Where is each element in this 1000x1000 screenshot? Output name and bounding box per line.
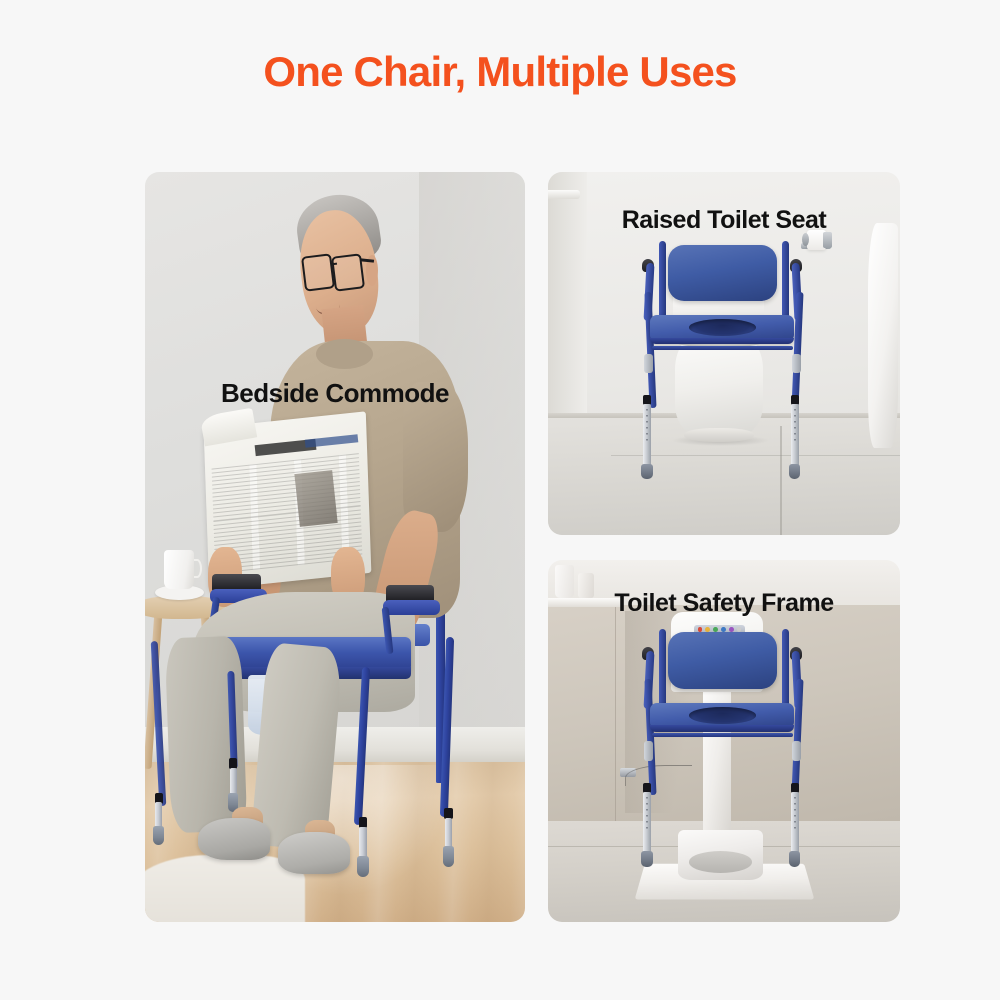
- wall-seam: [615, 605, 617, 822]
- rubber-foot-tip-left: [641, 851, 652, 866]
- product-feature-page: One Chair, Multiple Uses: [0, 0, 1000, 1000]
- seat-lip: [650, 338, 794, 345]
- leg-sleeve-left: [644, 354, 653, 374]
- leg-extender: [155, 802, 162, 828]
- frame-crossbar: [652, 346, 793, 350]
- panel-label-bedside-commode: Bedside Commode: [145, 378, 525, 409]
- rubber-foot-tip-right: [789, 464, 800, 479]
- newspaper-photo: [294, 470, 337, 526]
- tile-seam: [780, 426, 781, 535]
- rubber-foot-tip: [153, 826, 164, 845]
- leg-sleeve-left: [644, 741, 653, 761]
- page-title: One Chair, Multiple Uses: [0, 46, 1000, 98]
- scene-bedroom: [145, 172, 525, 922]
- tile-seam: [611, 455, 900, 456]
- rubber-foot-tip: [357, 856, 368, 877]
- tshirt-collar: [316, 339, 373, 369]
- armrest-bar-right: [383, 600, 440, 615]
- panel-raised-toilet-seat[interactable]: Raised Toilet Seat: [548, 172, 900, 535]
- rubber-foot-tip-left: [641, 464, 652, 479]
- leg-extender-left: [643, 792, 651, 854]
- seat-opening: [689, 319, 756, 336]
- leg-extender-left: [643, 404, 651, 466]
- slipper: [278, 832, 350, 874]
- leg-extender: [230, 768, 237, 795]
- collection-pan-basin: [689, 851, 752, 873]
- panel-bedside-commode[interactable]: Bedside Commode: [145, 172, 525, 922]
- seat-opening: [689, 707, 756, 724]
- eyeglasses-lens-right: [331, 253, 365, 291]
- panel-label-toilet-safety-frame: Toilet Safety Frame: [548, 589, 900, 618]
- panel-label-raised-toilet-seat: Raised Toilet Seat: [548, 206, 900, 235]
- frame-crossbar: [652, 733, 793, 737]
- leg-sleeve-right: [792, 354, 801, 374]
- eyeglasses-bridge: [332, 262, 337, 265]
- padded-backrest: [668, 632, 777, 688]
- leg-extender: [359, 827, 367, 858]
- toilet-base: [684, 428, 754, 443]
- wall-shelf: [548, 190, 580, 199]
- rubber-foot-tip-right: [789, 851, 800, 866]
- leg-extender-right: [791, 404, 799, 466]
- panel-toilet-safety-frame[interactable]: Toilet Safety Frame: [548, 560, 900, 922]
- towel: [868, 223, 898, 448]
- slipper: [198, 818, 270, 860]
- leg-extender: [445, 818, 453, 848]
- seat-lip: [650, 725, 794, 732]
- leg-sleeve-right: [792, 741, 801, 761]
- leg-extender-right: [791, 792, 799, 854]
- coffee-mug: [164, 550, 194, 589]
- padded-backrest: [668, 245, 777, 301]
- rubber-foot-tip: [443, 846, 454, 867]
- eyeglasses-lens-left: [301, 253, 335, 291]
